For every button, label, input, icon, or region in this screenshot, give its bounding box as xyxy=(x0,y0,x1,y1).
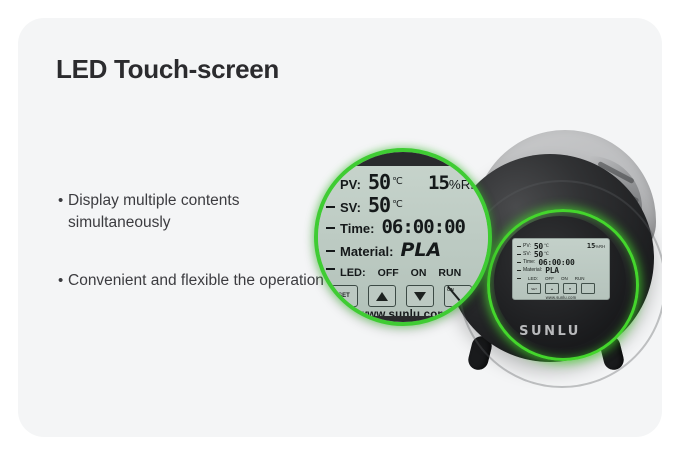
dash-marker-icon xyxy=(517,262,521,263)
lcd-unit-pv: ℃ xyxy=(392,176,403,187)
lcd-label-time: Time: xyxy=(523,259,535,265)
lcd-led-option-run[interactable]: RUN xyxy=(438,267,461,279)
dash-marker-icon xyxy=(326,250,335,252)
feature-card: LED Touch-screen • Display multiple cont… xyxy=(18,18,662,437)
up-button[interactable] xyxy=(368,285,396,307)
lcd-row-led-magnified: LED: OFF ON RUN xyxy=(326,262,480,284)
list-item: • Convenient and flexible the operation xyxy=(58,270,326,292)
list-item: • Display multiple contents simultaneous… xyxy=(58,190,326,234)
bullet-dot-icon: • xyxy=(58,270,68,292)
lcd-url: www.sunlu.com xyxy=(517,295,605,300)
lcd-led-option-run[interactable]: RUN xyxy=(575,276,585,281)
lcd-row-led: LED: OFF ON RUN xyxy=(517,274,605,282)
lcd-humidity-unit: %RH xyxy=(595,244,605,249)
lcd-row-sv-magnified: SV: 50 ℃ xyxy=(326,193,480,216)
lcd-value-material: PLA xyxy=(545,266,559,275)
lcd-unit-sv: ℃ xyxy=(544,251,549,257)
lcd-led-option-on[interactable]: ON xyxy=(561,276,568,281)
lcd-value-pv: 50 xyxy=(368,170,390,194)
arrow-down-icon xyxy=(414,292,426,301)
lcd-humidity: 15 xyxy=(587,242,595,250)
lcd-button-row: SET ▲ ▼ xyxy=(517,283,605,294)
lcd-label-sv: SV: xyxy=(523,251,531,257)
lcd-row-time: Time: 06:00:00 xyxy=(517,258,605,266)
lcd-label-material: Material: xyxy=(523,267,542,273)
page-title: LED Touch-screen xyxy=(56,54,279,85)
lcd-row-time-magnified: Time: 06:00:00 xyxy=(326,216,480,239)
lcd-label-material: Material: xyxy=(340,244,393,259)
set-button[interactable]: SET xyxy=(330,285,358,307)
lcd-unit-sv: ℃ xyxy=(392,199,403,210)
lcd-led-option-off[interactable]: OFF xyxy=(545,276,554,281)
set-button[interactable]: SET xyxy=(527,283,541,294)
dash-marker-icon xyxy=(517,254,521,255)
down-button[interactable] xyxy=(406,285,434,307)
lcd-label-sv: SV: xyxy=(340,200,361,215)
lcd-humidity: 15 xyxy=(428,172,449,194)
power-off-label: OFF xyxy=(460,300,469,305)
lcd-value-sv: 50 xyxy=(368,193,390,217)
power-toggle-button[interactable]: ON OFF xyxy=(444,285,472,307)
bullet-list: • Display multiple contents simultaneous… xyxy=(58,190,326,328)
lcd-label-pv: PV: xyxy=(523,243,531,249)
magnified-lcd-screen[interactable]: PV: 50 ℃ 15 %RH SV: 50 ℃ Time: xyxy=(314,166,492,316)
screenshot-root: LED Touch-screen • Display multiple cont… xyxy=(0,0,680,454)
up-button[interactable]: ▲ xyxy=(545,283,559,294)
lcd-label-time: Time: xyxy=(340,221,374,236)
device-lcd-screen[interactable]: PV: 50 ℃ 15 %RH SV: 50 ℃ Time: xyxy=(512,238,610,300)
lcd-label-pv: PV: xyxy=(340,177,361,192)
lcd-value-time: 06:00:00 xyxy=(381,216,465,238)
lcd-label-led: LED: xyxy=(340,267,366,279)
lcd-label-led: LED: xyxy=(528,276,538,281)
dash-marker-icon xyxy=(517,246,521,247)
lcd-led-option-on[interactable]: ON xyxy=(411,267,427,279)
dash-marker-icon xyxy=(326,206,335,208)
magnifier-content: PV: 50 ℃ 15 %RH SV: 50 ℃ Time: xyxy=(314,148,492,326)
arrow-up-icon xyxy=(376,292,388,301)
bullet-text: Convenient and flexible the operation xyxy=(68,270,324,292)
dash-marker-icon xyxy=(517,270,521,271)
brand-logo: SUNLU xyxy=(446,324,654,339)
lcd-humidity-unit: %RH xyxy=(449,177,480,192)
on-off-icon: ON OFF xyxy=(445,286,471,306)
lcd-row-pv-magnified: PV: 50 ℃ 15 %RH xyxy=(326,170,480,193)
lcd-row-material: Material: PLA xyxy=(517,266,605,274)
lcd-button-row-magnified: SET ON OFF xyxy=(326,285,480,307)
bullet-text: Display multiple contents simultaneously xyxy=(68,190,326,234)
lcd-row-material-magnified: Material: PLA xyxy=(326,239,480,262)
down-button[interactable]: ▼ xyxy=(563,283,577,294)
lcd-row-pv: PV: 50 ℃ 15 %RH xyxy=(517,242,605,250)
dash-marker-icon xyxy=(326,227,335,229)
dash-marker-icon xyxy=(326,268,335,270)
dash-marker-icon xyxy=(517,278,521,279)
dash-marker-icon xyxy=(326,183,335,185)
lcd-unit-pv: ℃ xyxy=(544,243,549,249)
bullet-dot-icon: • xyxy=(58,190,68,212)
lcd-value-material: PLA xyxy=(400,239,441,261)
lcd-led-option-off[interactable]: OFF xyxy=(378,267,399,279)
power-toggle-button[interactable] xyxy=(581,283,595,294)
magnifier-callout: PV: 50 ℃ 15 %RH SV: 50 ℃ Time: xyxy=(314,148,492,326)
